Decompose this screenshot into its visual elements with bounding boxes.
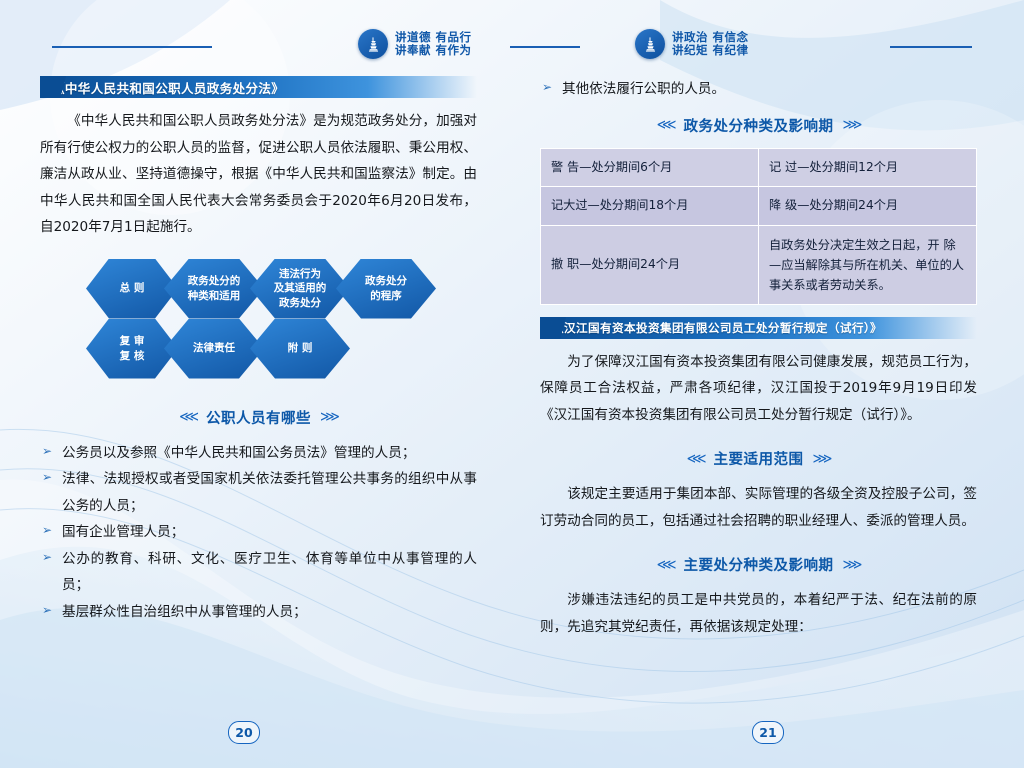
list-item-text: 国有企业管理人员； (62, 524, 184, 540)
tower-icon (358, 29, 388, 59)
table-row: 撤 职—处分期间24个月 自政务处分决定生效之日起，开 除—应当解除其与所在机关… (541, 225, 977, 304)
header-rule-left (52, 46, 212, 48)
page-number-left: 20 (228, 721, 260, 744)
header-rule-right (890, 46, 972, 48)
list-item-text: 基层群众性自治组织中从事管理的人员； (62, 604, 307, 620)
left-section-title-text: 《中华人民共和国公职人员政务处分法》 (52, 78, 284, 97)
right-paragraph-scope: 该规定主要适用于集团本部、实际管理的各级全资及控股子公司，签订劳动合同的员工，包… (540, 481, 977, 534)
arrow-right-icon: ⋙ (320, 409, 338, 425)
table-row: 警 告—处分期间6个月 记 过—处分期间12个月 (541, 148, 977, 187)
table-cell: 降 级—处分期间24个月 (759, 187, 977, 226)
bullet-marker-icon: ➢ (42, 546, 52, 569)
punishment-table: 警 告—处分期间6个月 记 过—处分期间12个月 记大过—处分期间18个月 降 … (540, 148, 977, 305)
arrow-right-icon: ⋙ (843, 557, 861, 573)
arrow-left-icon: ⋘ (179, 409, 197, 425)
table-row: 记大过—处分期间18个月 降 级—处分期间24个月 (541, 187, 977, 226)
bullet-marker-icon: ➢ (542, 76, 552, 99)
page-number-right: 21 (752, 721, 784, 744)
law-structure-flowchart: 总 则 政务处分的 种类和适用 违法行为 及其适用的 政务处分 政务处分 的程序… (86, 259, 446, 387)
left-column: 《中华人民共和国公职人员政务处分法》 《中华人民共和国公职人员政务处分法》是为规… (40, 76, 477, 625)
right-heading-types: ⋘ 政务处分种类及影响期 ⋙ (540, 115, 977, 136)
right-paragraph-types2: 涉嫌违法违纪的员工是中共党员的，本着纪严于法、纪在法前的原则，先追究其党纪责任，… (540, 587, 977, 640)
arrow-left-icon: ⋘ (657, 117, 675, 133)
right-heading-types2-text: 主要处分种类及影响期 (684, 554, 834, 575)
right-heading-types2: ⋘ 主要处分种类及影响期 ⋙ (540, 554, 977, 575)
list-item: ➢公办的教育、科研、文化、医疗卫生、体育等单位中从事管理的人员； (40, 546, 477, 599)
right-top-bullet-list: ➢其他依法履行公职的人员。 (540, 76, 977, 103)
arrow-left-icon: ⋘ (657, 557, 675, 573)
right-heading-scope-text: 主要适用范围 (714, 448, 804, 469)
list-item: ➢公务员以及参照《中华人民共和国公务员法》管理的人员； (40, 440, 477, 467)
list-item: ➢法律、法规授权或者受国家机关依法委托管理公共事务的组织中从事公务的人员； (40, 466, 477, 519)
arrow-right-icon: ⋙ (813, 451, 831, 467)
bullet-marker-icon: ➢ (42, 519, 52, 542)
flow-node-3: 违法行为 及其适用的 政务处分 (250, 259, 350, 319)
list-item: ➢国有企业管理人员； (40, 519, 477, 546)
arrow-right-icon: ⋙ (843, 117, 861, 133)
header-badge-left-text: 讲道德 有品行 讲奉献 有作为 (395, 31, 472, 57)
bullet-marker-icon: ➢ (42, 440, 52, 463)
left-center-heading: ⋘ 公职人员有哪些 ⋙ (40, 407, 477, 428)
table-cell: 撤 职—处分期间24个月 (541, 225, 759, 304)
header-badge-left: 讲道德 有品行 讲奉献 有作为 (358, 29, 472, 59)
header-ribbon: 讲道德 有品行 讲奉献 有作为 讲政治 有信念 讲纪矩 有纪律 (40, 24, 984, 68)
list-item-text: 其他依法履行公职的人员。 (562, 81, 725, 97)
bullet-marker-icon: ➢ (42, 466, 52, 489)
arrow-left-icon: ⋘ (687, 451, 705, 467)
right-paragraph: 为了保障汉江国有资本投资集团有限公司健康发展，规范员工行为，保障员工合法权益，严… (540, 349, 977, 429)
list-item: ➢基层群众性自治组织中从事管理的人员； (40, 599, 477, 626)
left-section-title: 《中华人民共和国公职人员政务处分法》 (40, 76, 477, 98)
left-center-heading-text: 公职人员有哪些 (206, 407, 311, 428)
bullet-marker-icon: ➢ (42, 599, 52, 622)
list-item-text: 法律、法规授权或者受国家机关依法委托管理公共事务的组织中从事公务的人员； (62, 471, 477, 514)
right-section-title-text: 《汉江国有资本投资集团有限公司员工处分暂行规定（试行）》 (552, 320, 882, 336)
left-paragraph: 《中华人民共和国公职人员政务处分法》是为规范政务处分，加强对所有行使公权力的公职… (40, 108, 477, 241)
list-item: ➢其他依法履行公职的人员。 (540, 76, 977, 103)
flow-node-4: 政务处分 的程序 (336, 259, 436, 319)
header-badge-right-text: 讲政治 有信念 讲纪矩 有纪律 (672, 31, 749, 57)
table-cell: 自政务处分决定生效之日起，开 除—应当解除其与所在机关、单位的人事关系或者劳动关… (759, 225, 977, 304)
right-heading-scope: ⋘ 主要适用范围 ⋙ (540, 448, 977, 469)
table-cell: 警 告—处分期间6个月 (541, 148, 759, 187)
header-badge-left-line2: 讲奉献 有作为 (395, 44, 472, 57)
document-page: 讲道德 有品行 讲奉献 有作为 讲政治 有信念 讲纪矩 有纪律 (0, 0, 1024, 768)
table-cell: 记大过—处分期间18个月 (541, 187, 759, 226)
table-cell: 记 过—处分期间12个月 (759, 148, 977, 187)
left-bullet-list: ➢公务员以及参照《中华人民共和国公务员法》管理的人员； ➢法律、法规授权或者受国… (40, 440, 477, 626)
header-badge-right: 讲政治 有信念 讲纪矩 有纪律 (635, 29, 749, 59)
list-item-text: 公务员以及参照《中华人民共和国公务员法》管理的人员； (62, 445, 415, 461)
right-heading-types-text: 政务处分种类及影响期 (684, 115, 834, 136)
flow-node-2: 政务处分的 种类和适用 (164, 259, 264, 319)
right-section-title: 《汉江国有资本投资集团有限公司员工处分暂行规定（试行）》 (540, 317, 977, 339)
header-badge-right-line2: 讲纪矩 有纪律 (672, 44, 749, 57)
flow-node-7: 附 则 (250, 319, 350, 379)
flow-node-6: 法律责任 (164, 319, 264, 379)
header-rule-mid (510, 46, 580, 48)
list-item-text: 公办的教育、科研、文化、医疗卫生、体育等单位中从事管理的人员； (62, 551, 477, 594)
right-column: ➢其他依法履行公职的人员。 ⋘ 政务处分种类及影响期 ⋙ 警 告—处分期间6个月… (540, 76, 977, 642)
tower-icon (635, 29, 665, 59)
